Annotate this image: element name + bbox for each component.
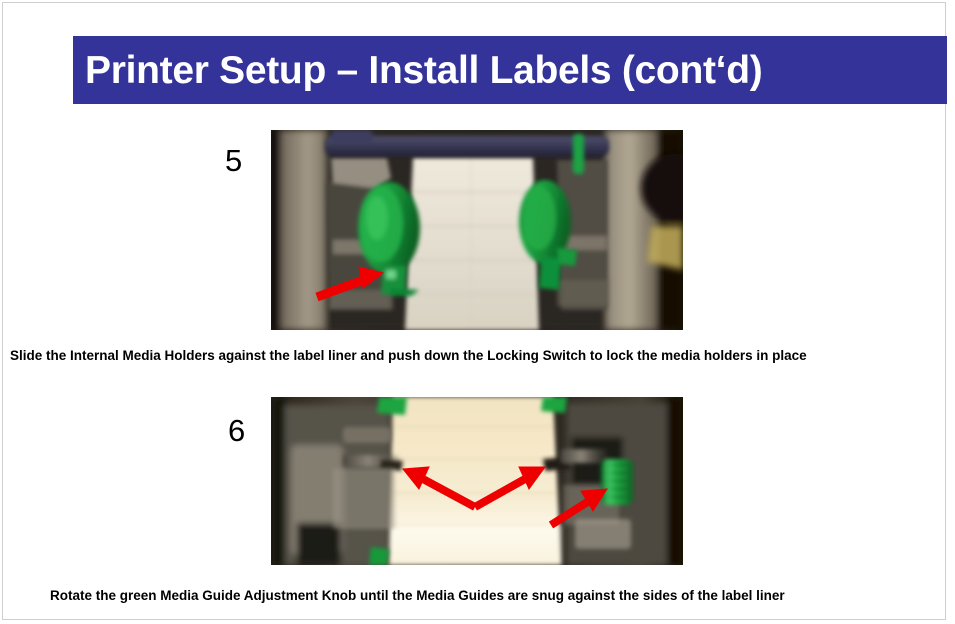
slide-title-banner: Printer Setup – Install Labels (cont‘d) xyxy=(73,36,947,104)
caption-step-5: Slide the Internal Media Holders against… xyxy=(10,348,807,364)
media-guide-adjustment-knob xyxy=(601,459,633,505)
photo-step-5 xyxy=(271,130,683,330)
photo-step-5-graphic xyxy=(271,130,683,330)
photo-step-6-graphic xyxy=(271,397,683,565)
caption-step-6: Rotate the green Media Guide Adjustment … xyxy=(50,588,785,604)
slide-canvas: Printer Setup – Install Labels (cont‘d) … xyxy=(0,0,955,624)
photo-step-6 xyxy=(271,397,683,565)
step-number-6: 6 xyxy=(228,415,245,446)
step-number-5: 5 xyxy=(225,145,242,176)
slide-title: Printer Setup – Install Labels (cont‘d) xyxy=(85,51,762,90)
